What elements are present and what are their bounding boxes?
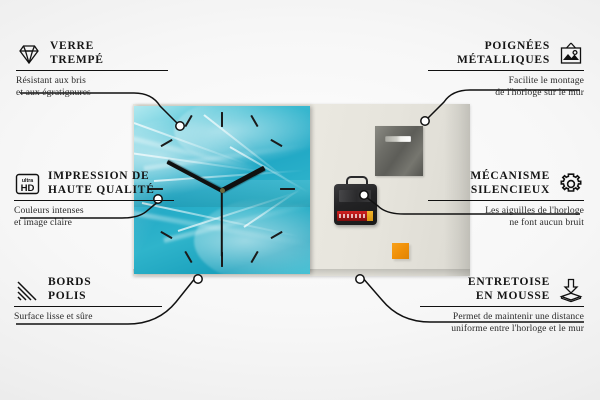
callout-subtitle: Couleurs intenses et image claire [14,205,174,228]
movement-housing-detail [339,190,371,202]
foam-spacer [392,243,409,259]
product-photo [133,104,470,276]
callout-mecanisme-silencieux: MÉCANISME SILENCIEUX Les aiguilles de l'… [428,170,584,228]
callout-subtitle: Les aiguilles de l'horloge ne font aucun… [428,205,584,228]
clock-second-hand [221,191,223,257]
hanger-slot [385,136,411,142]
callout-verre-trempe: VERRE TREMPÉ Résistant aux bris et aux é… [16,40,168,98]
metal-hanger-plate [375,126,423,176]
diamond-icon [16,41,42,67]
polished-edges-icon [14,277,40,303]
clock-movement [334,184,377,225]
callout-header: ultra HD IMPRESSION DE HAUTE QUALITÉ [14,170,174,197]
callout-rule [420,306,584,307]
callout-header: MÉCANISME SILENCIEUX [428,170,584,197]
callout-title: VERRE TREMPÉ [50,40,104,67]
callout-header: ENTRETOISE EN MOUSSE [420,276,584,303]
clock-minute-hand [166,160,223,193]
callout-title: POIGNÉES MÉTALLIQUES [457,40,550,67]
callout-subtitle: Permet de maintenir une distance uniform… [420,311,584,334]
battery-positive-tip [367,211,373,221]
callout-header: POIGNÉES MÉTALLIQUES [428,40,584,67]
callout-poignees-metalliques: POIGNÉES MÉTALLIQUES Facilite le montage… [428,40,584,98]
callout-title: IMPRESSION DE HAUTE QUALITÉ [48,170,155,197]
callout-entretoise-en-mousse: ENTRETOISE EN MOUSSE Permet de maintenir… [420,276,584,334]
callout-rule [16,70,168,71]
svg-text:HD: HD [21,183,35,194]
ultra-hd-icon: ultra HD [14,171,40,197]
callout-rule [428,200,584,201]
callout-title: BORDS POLIS [48,276,91,303]
infographic-canvas: VERRE TREMPÉ Résistant aux bris et aux é… [0,0,600,400]
callout-rule [428,70,584,71]
callout-title: ENTRETOISE EN MOUSSE [468,276,550,303]
clock-hour-hand [221,166,266,193]
callout-title: MÉCANISME SILENCIEUX [470,170,550,197]
callout-subtitle: Facilite le montage de l'horloge sur le … [428,75,584,98]
aa-battery [337,211,373,221]
battery-label [339,214,367,218]
callout-impression-haute-qualite: ultra HD IMPRESSION DE HAUTE QUALITÉ Cou… [14,170,174,228]
gear-icon [558,171,584,197]
spacer-down-arrow-icon [558,277,584,303]
hanging-frame-icon [558,41,584,67]
callout-subtitle: Surface lisse et sûre [14,311,162,322]
callout-rule [14,200,174,201]
clock-center-cap [220,188,225,193]
callout-subtitle: Résistant aux bris et aux égratignures [16,75,168,98]
callout-rule [14,306,162,307]
callout-bords-polis: BORDS POLIS Surface lisse et sûre [14,276,162,323]
callout-header: VERRE TREMPÉ [16,40,168,67]
callout-header: BORDS POLIS [14,276,162,303]
